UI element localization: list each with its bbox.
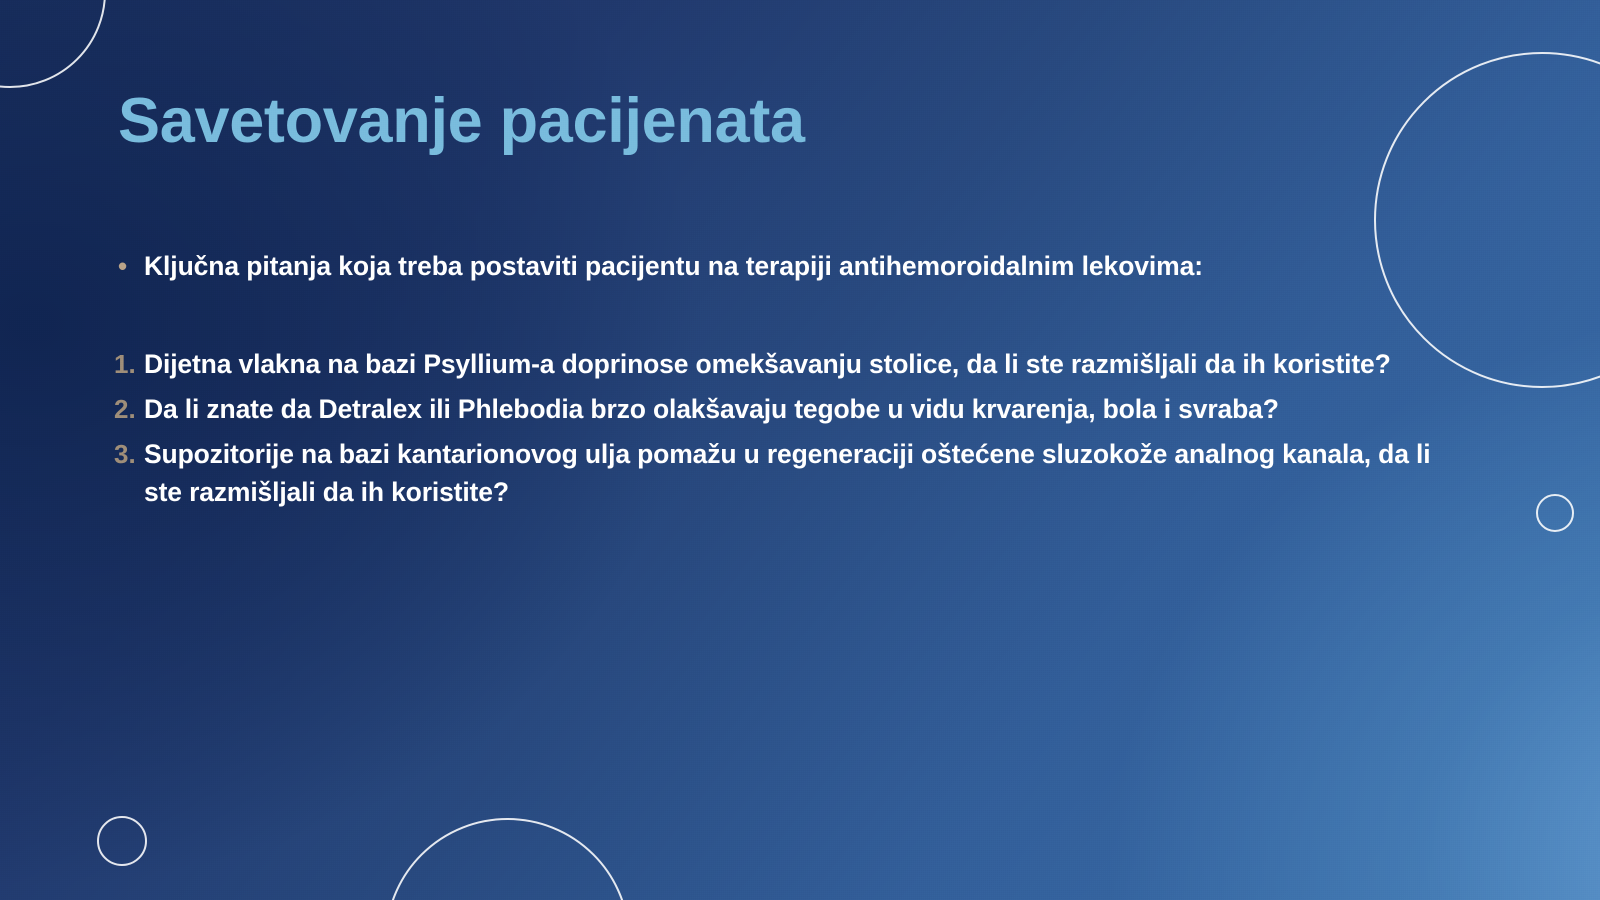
list-item-text: Da li znate da Detralex ili Phlebodia br… bbox=[144, 391, 1447, 429]
presentation-slide: Savetovanje pacijenata • Ključna pitanja… bbox=[0, 0, 1600, 900]
list-item-number: 3. bbox=[112, 436, 144, 473]
decorative-circle-bottom-left-small bbox=[97, 816, 147, 866]
lead-bullet-row: • Ključna pitanja koja treba postaviti p… bbox=[112, 248, 1447, 286]
list-item-text: Supozitorije na bazi kantarionovog ulja … bbox=[144, 436, 1447, 512]
decorative-circle-top-left bbox=[0, 0, 106, 88]
bullet-dot-icon: • bbox=[112, 248, 144, 285]
list-item-number: 1. bbox=[112, 346, 144, 383]
decorative-circle-right-small bbox=[1536, 494, 1574, 532]
list-item: 1. Dijetna vlakna na bazi Psyllium-a dop… bbox=[112, 346, 1447, 384]
numbered-question-list: 1. Dijetna vlakna na bazi Psyllium-a dop… bbox=[112, 346, 1447, 512]
list-item: 3. Supozitorije na bazi kantarionovog ul… bbox=[112, 436, 1447, 512]
list-item-text: Dijetna vlakna na bazi Psyllium-a doprin… bbox=[144, 346, 1447, 384]
list-item: 2. Da li znate da Detralex ili Phlebodia… bbox=[112, 391, 1447, 429]
decorative-circle-bottom-left-large bbox=[385, 818, 630, 900]
list-item-number: 2. bbox=[112, 391, 144, 428]
lead-bullet-text: Ključna pitanja koja treba postaviti pac… bbox=[144, 248, 1447, 286]
slide-title: Savetovanje pacijenata bbox=[118, 88, 1418, 154]
slide-body: • Ključna pitanja koja treba postaviti p… bbox=[112, 248, 1447, 518]
